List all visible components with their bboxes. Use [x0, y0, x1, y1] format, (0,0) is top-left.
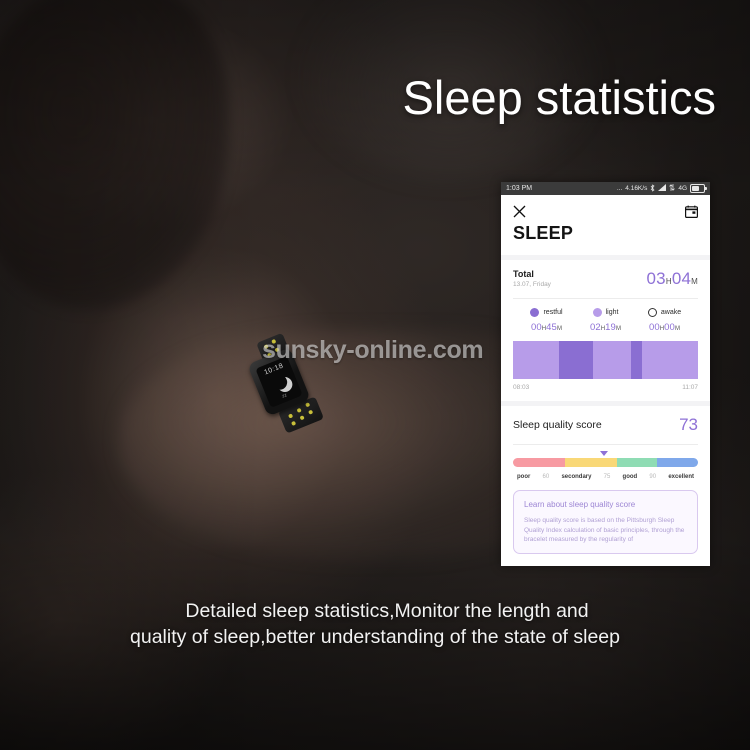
legend-value-awake: 00H00M [649, 322, 680, 333]
sleep-stage-chart[interactable] [513, 341, 698, 379]
light-dot-icon [593, 308, 602, 317]
caption-line-2: quality of sleep,better understanding of… [0, 624, 750, 650]
calendar-icon[interactable] [685, 205, 698, 218]
score-row: Sleep quality score 73 [513, 415, 698, 435]
score-value: 73 [679, 415, 698, 435]
caption-line-1: Detailed sleep statistics,Monitor the le… [0, 598, 750, 624]
legend-item-awake: awake 00H00M [635, 308, 694, 333]
restful-minutes-unit: M [557, 326, 562, 332]
legend-item-light: light 02H19M [576, 308, 635, 333]
sleep-quality-card: Sleep quality score 73 poor60secondary75… [501, 406, 710, 490]
gauge-label-secondary: secondary [561, 474, 591, 480]
status-dots: ... [617, 185, 622, 192]
learn-box[interactable]: Learn about sleep quality score Sleep qu… [513, 490, 698, 554]
gauge-band-excellent [657, 458, 698, 467]
learn-title: Learn about sleep quality score [524, 500, 687, 509]
awake-hours: 00 [649, 322, 660, 333]
quality-gauge: poor60secondary75good90excellent [513, 458, 698, 480]
legend-value-restful: 00H45M [531, 322, 562, 333]
sleep-legend: restful 00H45M light 02H19M awake [513, 308, 698, 333]
total-minutes: 04 [672, 269, 691, 288]
sleep-segment-light [642, 341, 698, 379]
sleep-segment-restful [631, 341, 642, 379]
gauge-label-poor: poor [517, 474, 530, 480]
sleep-end-time: 11:07 [682, 384, 698, 391]
gauge-label-excellent: excellent [668, 474, 694, 480]
restful-minutes: 45 [546, 322, 557, 333]
moon-icon [270, 373, 290, 393]
light-minutes: 19 [605, 322, 616, 333]
network-type: 4G [678, 185, 687, 192]
close-icon[interactable] [513, 205, 526, 218]
gauge-band-poor [513, 458, 565, 467]
promo-caption: Detailed sleep statistics,Monitor the le… [0, 598, 750, 650]
total-date: 13.07, Friday [513, 281, 551, 288]
promo-banner: 10:18 zz sunsky-online.com Sleep statist… [0, 0, 750, 750]
sleep-time-range: 08:03 11:07 [513, 384, 698, 391]
gauge-label-60: 60 [543, 474, 550, 480]
battery-icon [690, 184, 705, 193]
network-speed: 4.16K/s [625, 185, 647, 192]
gauge-label-90: 90 [649, 474, 656, 480]
sleep-segment-light [513, 341, 559, 379]
watch-sleep-label: zz [268, 387, 302, 405]
gauge-marker-icon [600, 451, 608, 456]
screen-title: SLEEP [501, 218, 710, 255]
restful-dot-icon [530, 308, 539, 317]
sleep-start-time: 08:03 [513, 384, 529, 391]
signal-icon [658, 184, 666, 193]
gauge-bar[interactable] [513, 458, 698, 467]
total-label: Total [513, 269, 551, 279]
awake-dot-icon [648, 308, 657, 317]
total-duration: 03H04M [647, 269, 698, 289]
legend-label-restful: restful [543, 309, 562, 316]
total-hours: 03 [647, 269, 666, 288]
total-minutes-unit: M [691, 277, 698, 286]
sleep-segment-restful [559, 341, 592, 379]
learn-body: Sleep quality score is based on the Pitt… [524, 516, 687, 545]
gauge-label-75: 75 [604, 474, 611, 480]
watermark: sunsky-online.com [262, 336, 490, 365]
awake-minutes-unit: M [675, 326, 680, 332]
restful-hours: 00 [531, 322, 542, 333]
status-bar-time: 1:03 PM [506, 185, 532, 192]
gauge-label-good: good [623, 474, 638, 480]
light-hours: 02 [590, 322, 601, 333]
legend-label-light: light [606, 309, 619, 316]
mobile-data-icon [669, 184, 675, 193]
status-bar: 1:03 PM ... 4.16K/s 4G [501, 182, 710, 195]
score-label: Sleep quality score [513, 419, 602, 431]
page-title: Sleep statistics [403, 70, 716, 125]
sleep-summary-card: Total 13.07, Friday 03H04M restful 00H45… [501, 260, 710, 401]
total-row: Total 13.07, Friday 03H04M [513, 269, 698, 289]
gauge-band-secondary [565, 458, 617, 467]
legend-item-restful: restful 00H45M [517, 308, 576, 333]
legend-label-awake: awake [661, 309, 681, 316]
divider [513, 298, 698, 299]
divider-2 [513, 444, 698, 445]
gauge-scale-labels: poor60secondary75good90excellent [513, 474, 698, 480]
awake-minutes: 00 [664, 322, 675, 333]
sleep-segment-light [593, 341, 632, 379]
app-bar [501, 195, 710, 218]
light-minutes-unit: M [616, 326, 621, 332]
phone-screenshot: 1:03 PM ... 4.16K/s 4G [501, 182, 710, 566]
bluetooth-icon [650, 184, 655, 194]
gauge-band-good [617, 458, 658, 467]
legend-value-light: 02H19M [590, 322, 621, 333]
